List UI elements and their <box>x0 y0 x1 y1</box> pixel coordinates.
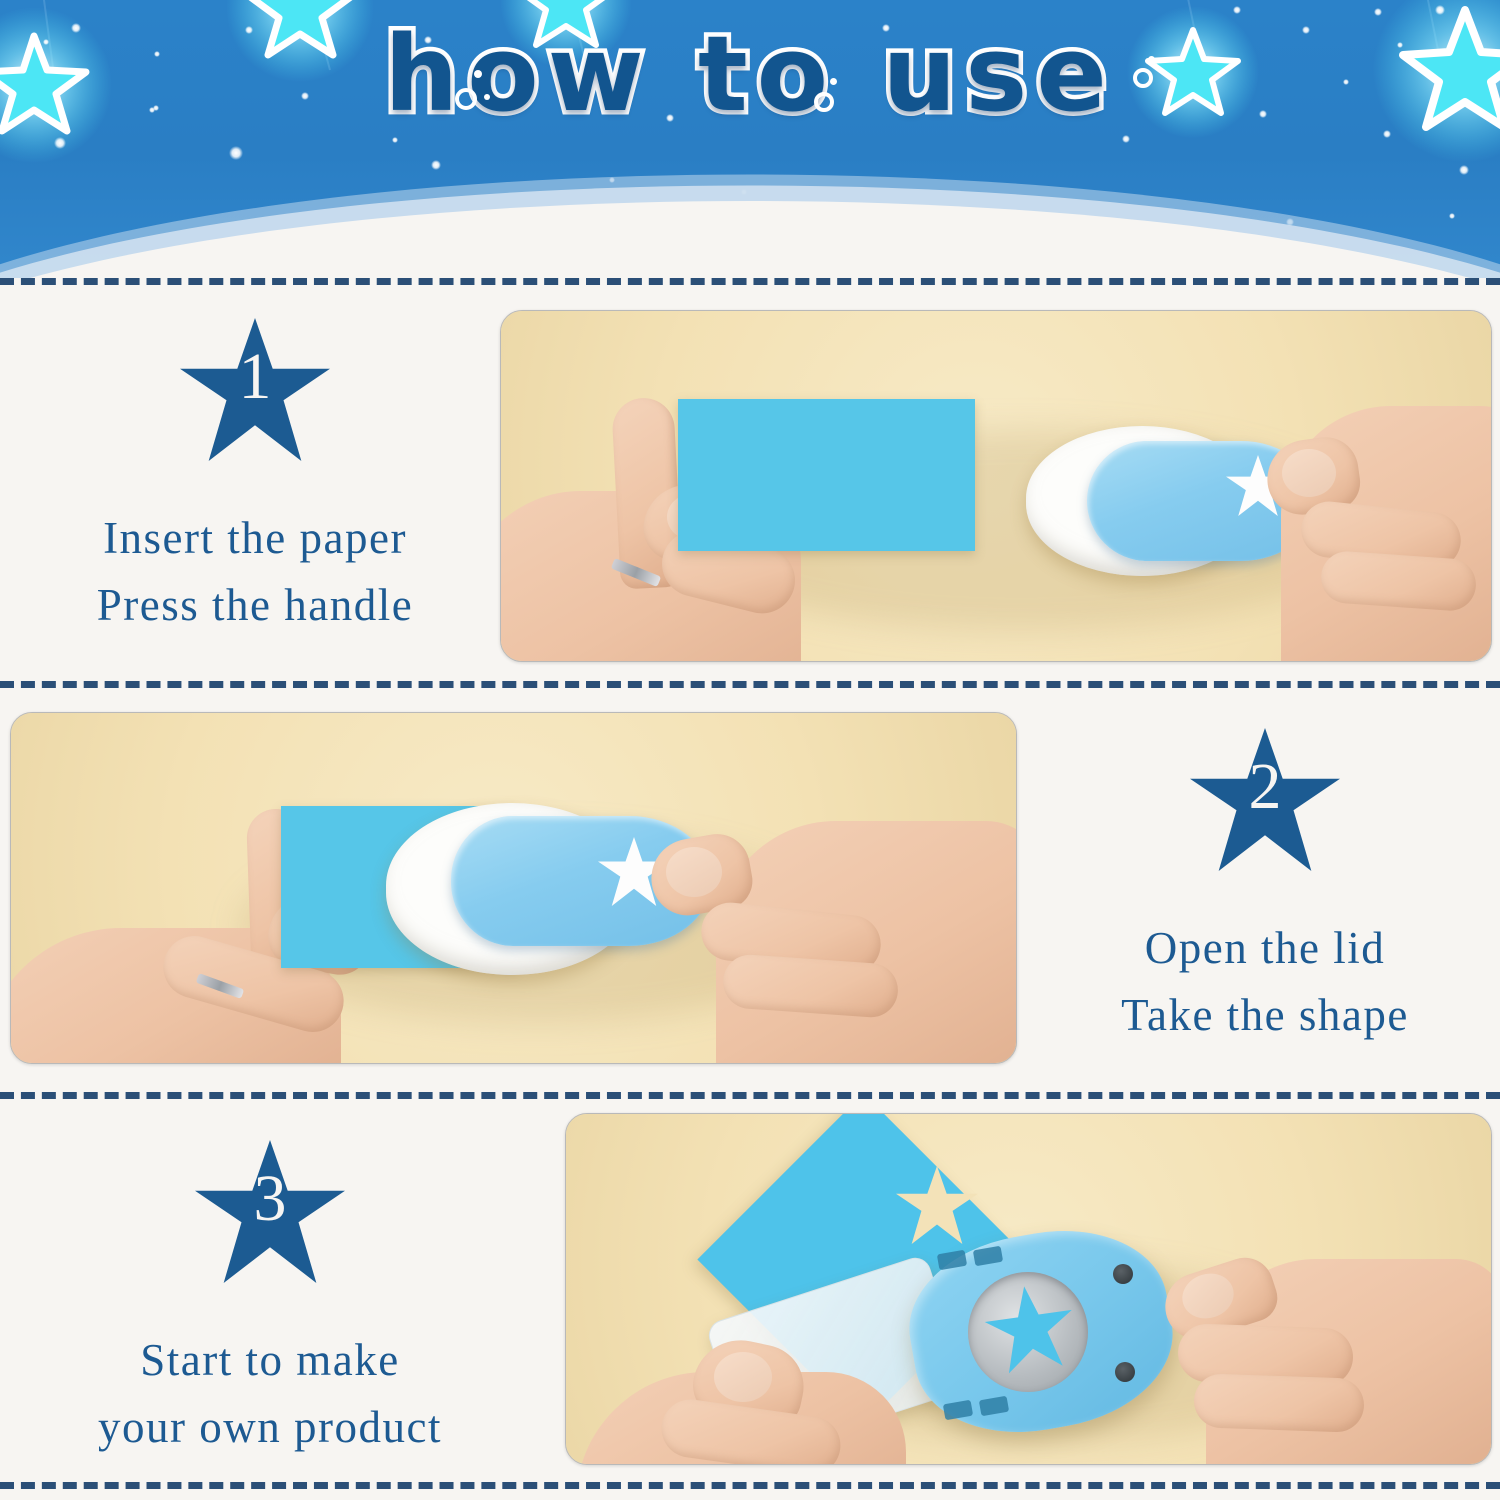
step-3-caption: Start to make your own product <box>40 1327 500 1460</box>
photo-1-right-thumb-nail <box>1282 449 1336 497</box>
header-banner: how to use <box>0 0 1500 278</box>
divider-4 <box>0 1482 1500 1489</box>
step-2-text-block: 2 Open the lid Take the shape <box>1040 728 1490 1048</box>
title-bubble-4 <box>814 92 834 112</box>
step-2-caption-line1: Open the lid <box>1040 915 1490 982</box>
title-bubble-5 <box>830 78 837 85</box>
step-1-photo <box>500 310 1492 662</box>
photo-3-screw-top <box>1113 1264 1133 1284</box>
step-3-photo <box>565 1113 1492 1465</box>
title-bubble-6 <box>1133 68 1153 88</box>
divider-1 <box>0 278 1500 285</box>
photo-3-screw-bottom <box>1115 1362 1135 1382</box>
step-1-caption-line2: Press the handle <box>30 572 480 639</box>
title-bubble-3 <box>484 94 490 100</box>
step-3-text-block: 3 Start to make your own product <box>40 1140 500 1460</box>
step-2-caption: Open the lid Take the shape <box>1040 915 1490 1048</box>
step-3-number: 3 <box>195 1166 345 1232</box>
title-bubble-1 <box>455 88 477 110</box>
step-1-caption: Insert the paper Press the handle <box>30 505 480 638</box>
step-2-number: 2 <box>1190 754 1340 820</box>
step-1-star-badge: 1 <box>180 318 330 461</box>
step-2-star-badge: 2 <box>1190 728 1340 871</box>
photo-1-right-finger-3 <box>1319 550 1477 613</box>
title-bubble-7 <box>1148 56 1155 63</box>
step-3-caption-line2: your own product <box>40 1394 500 1461</box>
photo-1-blue-paper <box>678 399 975 551</box>
divider-2 <box>0 681 1500 688</box>
step-1-caption-line1: Insert the paper <box>30 505 480 572</box>
step-1-text-block: 1 Insert the paper Press the handle <box>30 318 480 638</box>
step-1-number: 1 <box>180 344 330 410</box>
page-title: how to use <box>384 22 1116 126</box>
photo-3-right-finger-3 <box>1193 1373 1365 1433</box>
step-2-photo <box>10 712 1017 1064</box>
divider-3 <box>0 1092 1500 1099</box>
step-2-caption-line2: Take the shape <box>1040 982 1490 1049</box>
photo-2-right-thumb-nail <box>666 847 722 897</box>
step-3-star-badge: 3 <box>195 1140 345 1283</box>
photo-3-left-thumb-nail <box>714 1352 772 1402</box>
step-3-caption-line1: Start to make <box>40 1327 500 1394</box>
title-bubble-2 <box>474 70 482 78</box>
infographic-page: how to use 1 Insert the paper Press the … <box>0 0 1500 1500</box>
wave-band-inner <box>0 201 1500 278</box>
